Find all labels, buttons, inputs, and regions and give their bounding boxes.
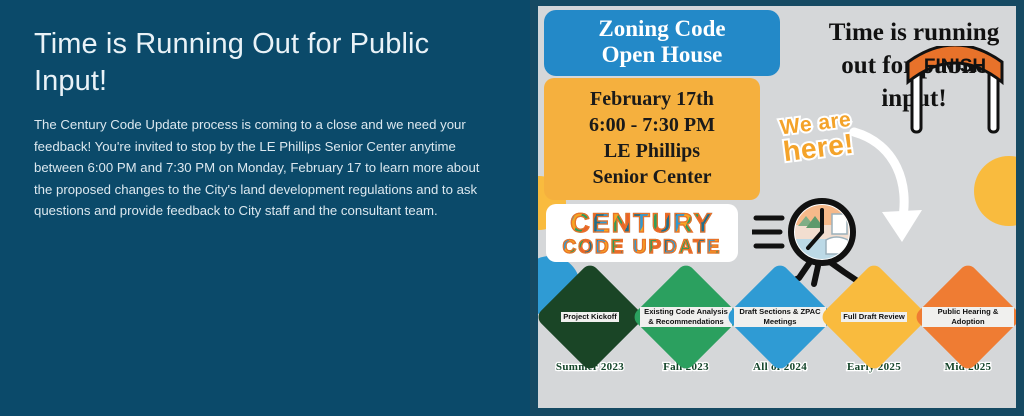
flyer-title-box: Zoning Code Open House [544,10,780,76]
finish-banner-label: FINISH [924,56,986,77]
intro-text-panel: Time is Running Out for Public Input! Th… [0,0,530,416]
timeline-step-3: Draft Sections & ZPAC Meetings All of 20… [734,278,826,373]
timeline-label-5: Public Hearing & Adoption [922,307,1014,327]
event-flyer-image: Zoning Code Open House February 17th 6:0… [530,0,1024,416]
flyer-venue-line2: Senior Center [550,164,754,190]
timeline-diamond-2: Existing Code Analysis & Recommendations [631,262,741,372]
flyer-title-line2: Open House [552,42,772,68]
timeline-diamond-5: Public Hearing & Adoption [913,262,1016,372]
flyer-canvas: Zoning Code Open House February 17th 6:0… [538,6,1016,408]
logo-line1: CENTURY [570,209,714,237]
timeline-step-5: Public Hearing & Adoption Mid 2025 [922,278,1014,373]
timeline-step-1: Project Kickoff Summer 2023 [544,278,636,373]
timeline-diamond-4: Full Draft Review [819,262,929,372]
page-root: Time is Running Out for Public Input! Th… [0,0,1024,416]
flyer-time: 6:00 - 7:30 PM [550,112,754,138]
timeline-step-4: Full Draft Review Early 2025 [828,278,920,373]
flyer-details-box: February 17th 6:00 - 7:30 PM LE Phillips… [544,78,760,200]
decorative-blob-orange-right [974,156,1016,226]
project-timeline: Project Kickoff Summer 2023 Existing Cod… [538,278,1016,404]
logo-line2: CODE UPDATE [563,237,722,258]
timeline-label-3: Draft Sections & ZPAC Meetings [734,307,826,327]
timeline-label-1: Project Kickoff [561,312,619,322]
page-title: Time is Running Out for Public Input! [34,26,496,100]
flyer-title-line1: Zoning Code [552,16,772,42]
timeline-step-2: Existing Code Analysis & Recommendations… [640,278,732,373]
flyer-venue-line1: LE Phillips [550,138,754,164]
century-code-update-logo: CENTURY CODE UPDATE [546,204,738,262]
timeline-label-2: Existing Code Analysis & Recommendations [640,307,732,327]
intro-paragraph: The Century Code Update process is comin… [34,114,496,222]
timeline-label-4: Full Draft Review [841,312,907,322]
timeline-diamond-3: Draft Sections & ZPAC Meetings [725,262,835,372]
timeline-diamond-1: Project Kickoff [538,262,645,372]
finish-banner-icon: FINISH [900,46,1010,138]
flyer-date: February 17th [550,86,754,112]
